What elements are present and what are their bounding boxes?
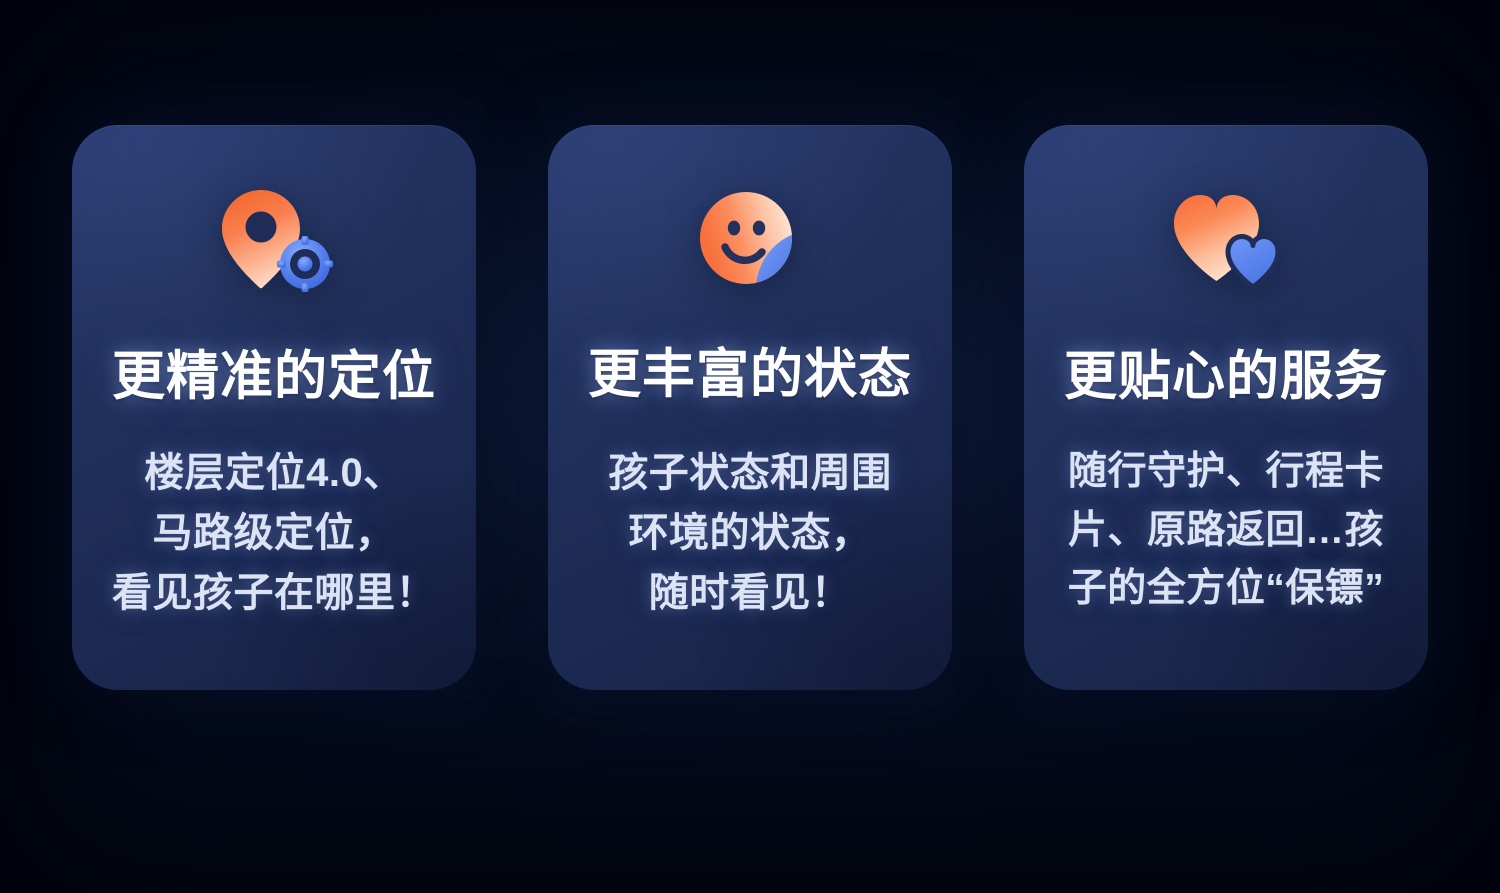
card-body-line: 看见孩子在哪里！ [98,563,450,623]
card-body-line: 楼层定位4.0、 [98,443,450,503]
card-title: 更丰富的状态 [548,345,952,404]
card-body-line: 随时看见！ [574,563,926,623]
card-body-line: 马路级定位， [98,503,450,563]
card-body-line: 片、原路返回…孩 [1050,502,1402,561]
feature-card-service[interactable]: 更贴心的服务 随行守护、行程卡 片、原路返回…孩 子的全方位“保镖” [1024,125,1428,690]
double-heart-icon [1024,185,1428,295]
card-body-line: 孩子状态和周围 [574,443,926,503]
card-body-line: 随行守护、行程卡 [1050,443,1402,502]
card-body: 随行守护、行程卡 片、原路返回…孩 子的全方位“保镖” [1050,443,1402,619]
card-title: 更精准的定位 [72,347,476,406]
card-title: 更贴心的服务 [1024,347,1428,406]
card-body: 孩子状态和周围 环境的状态， 随时看见！ [574,443,926,623]
card-body-line: 环境的状态， [574,503,926,563]
card-body: 楼层定位4.0、 马路级定位， 看见孩子在哪里！ [98,443,450,623]
location-pin-crosshair-icon [72,185,476,295]
feature-card-location[interactable]: 更精准的定位 楼层定位4.0、 马路级定位， 看见孩子在哪里！ [72,125,476,690]
feature-card-status[interactable]: 更丰富的状态 孩子状态和周围 环境的状态， 随时看见！ [548,125,952,690]
feature-card-row: 更精准的定位 楼层定位4.0、 马路级定位， 看见孩子在哪里！ [72,125,1428,690]
card-body-line: 子的全方位“保镖” [1050,560,1402,619]
smiley-face-sticker-icon [548,185,952,295]
